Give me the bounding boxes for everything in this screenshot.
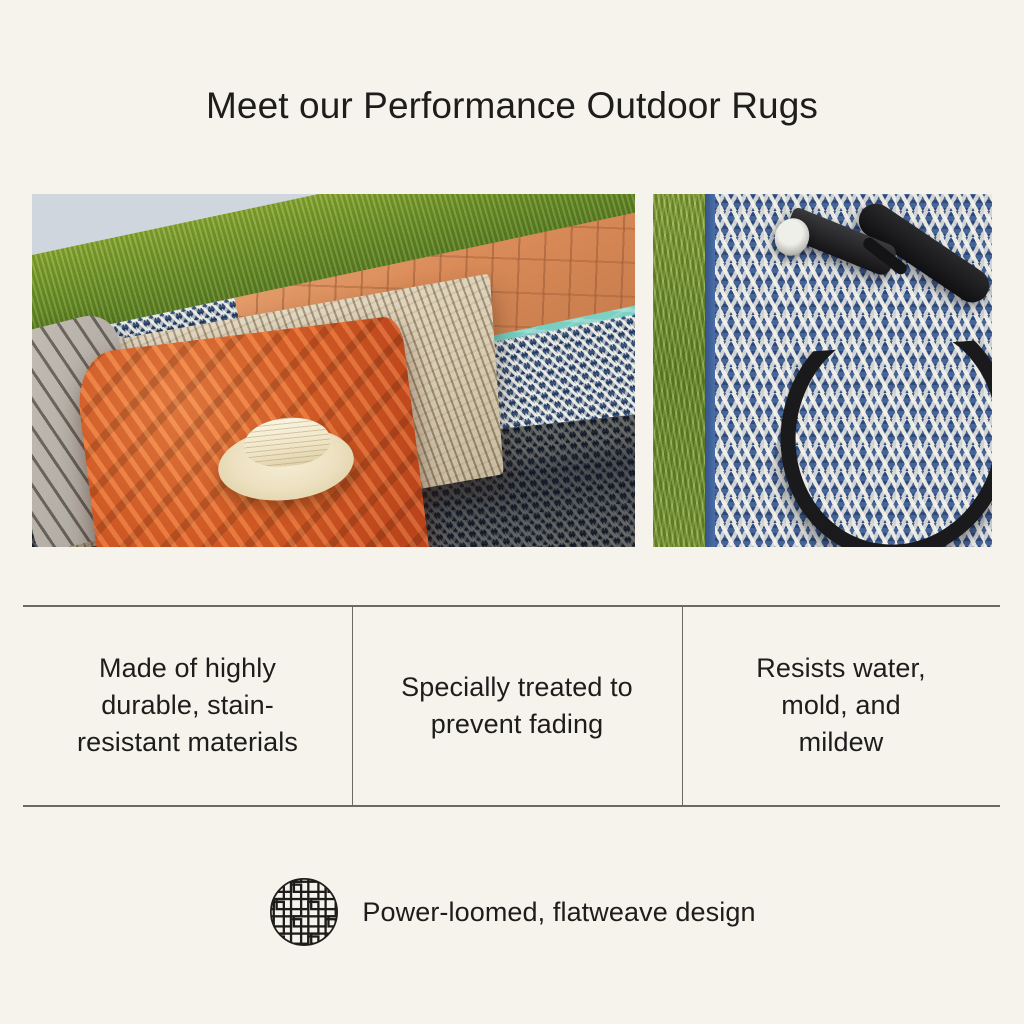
footer-label: Power-loomed, flatweave design bbox=[362, 896, 755, 928]
infographic-page: Meet our Performance Outdoor Rugs bbox=[0, 0, 1024, 1024]
feature-water-resistance: Resists water, mold, and mildew bbox=[682, 606, 1000, 805]
feature-fade-resistance: Specially treated to prevent fading bbox=[352, 606, 682, 805]
feature-durability-text: Made of highly durable, stain- resistant… bbox=[77, 650, 298, 760]
footer-badge: Power-loomed, flatweave design bbox=[0, 876, 1024, 948]
lawn-grass bbox=[653, 194, 708, 547]
hose-on-rug-photo bbox=[653, 194, 992, 547]
basketweave-icon bbox=[268, 876, 340, 948]
rug-border-edge bbox=[705, 194, 715, 547]
feature-list: Made of highly durable, stain- resistant… bbox=[23, 606, 1000, 805]
poolside-lounger-rug-photo bbox=[32, 194, 635, 547]
feature-durability: Made of highly durable, stain- resistant… bbox=[23, 606, 352, 805]
divider-bottom bbox=[23, 805, 1000, 807]
feature-fade-resistance-text: Specially treated to prevent fading bbox=[401, 669, 633, 742]
feature-water-resistance-text: Resists water, mold, and mildew bbox=[756, 650, 925, 760]
page-title: Meet our Performance Outdoor Rugs bbox=[0, 84, 1024, 128]
photo-gallery bbox=[32, 194, 992, 547]
